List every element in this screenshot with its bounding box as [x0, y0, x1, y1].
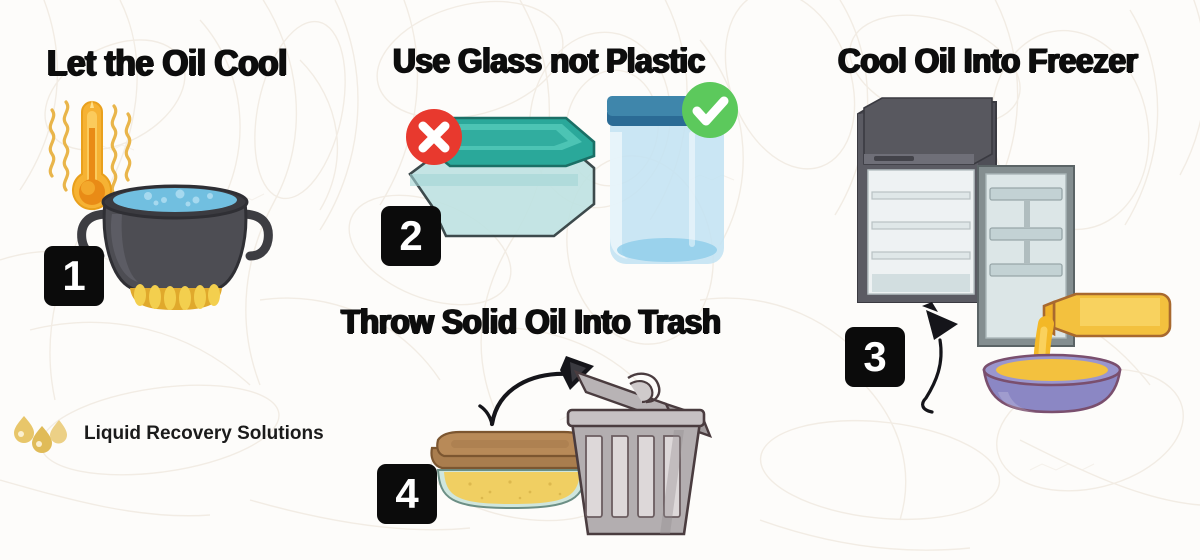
brand-logo: Liquid Recovery Solutions	[10, 412, 324, 456]
thermometer-icon	[73, 100, 111, 209]
step-3-badge: 3	[845, 327, 905, 387]
green-check-icon	[682, 82, 738, 138]
cooking-pot-icon	[82, 186, 269, 310]
step-3-title: Cool Oil Into Freezer	[838, 42, 1137, 81]
red-x-icon	[406, 109, 462, 165]
bowl-icon	[984, 355, 1120, 412]
trash-can-icon	[568, 372, 710, 534]
infographic-canvas: Let the Oil Cool	[0, 0, 1200, 560]
solid-oil-container-icon	[431, 432, 592, 508]
step-2-badge: 2	[381, 206, 441, 266]
refrigerator-icon	[858, 98, 1074, 346]
step-4-badge: 4	[377, 464, 437, 524]
step-4-title: Throw Solid Oil Into Trash	[341, 303, 721, 342]
step-2-title: Use Glass not Plastic	[393, 42, 705, 81]
step-2-illustration	[392, 82, 752, 287]
step-1-badge: 1	[44, 246, 104, 306]
power-plug-icon	[922, 302, 958, 412]
oil-droplets-icon	[10, 412, 72, 456]
brand-name: Liquid Recovery Solutions	[84, 423, 324, 445]
step-1-title: Let the Oil Cool	[47, 42, 287, 84]
